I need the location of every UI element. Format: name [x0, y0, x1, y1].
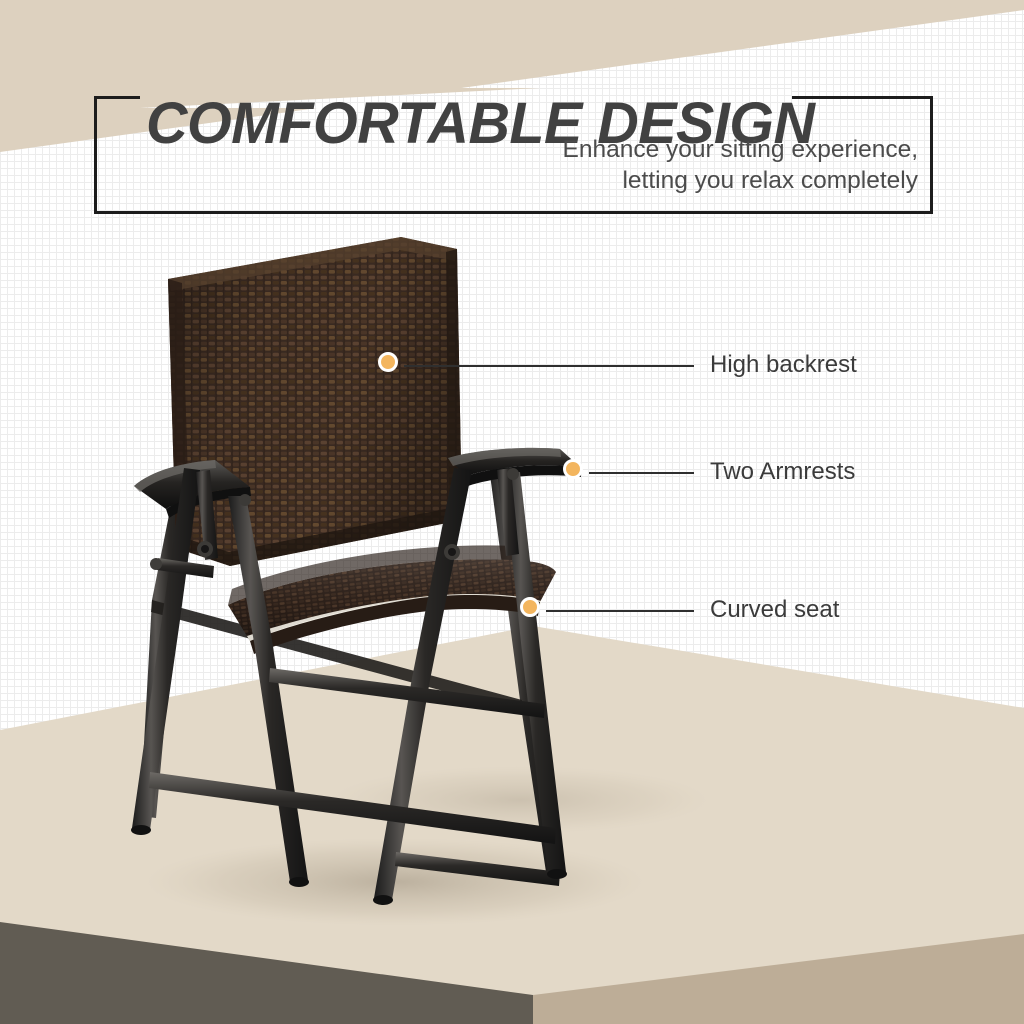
callout-label-two-armrests: Two Armrests — [710, 458, 855, 486]
page-subtitle: Enhance your sitting experience, letting… — [358, 134, 918, 196]
marker-dot-two-armrests — [563, 459, 583, 479]
chair-seat — [228, 545, 556, 654]
callout-label-high-backrest: High backrest — [710, 351, 857, 379]
marker-dot-curved-seat — [520, 597, 540, 617]
leader-line-high-backrest — [404, 365, 694, 367]
infographic-canvas: COMFORTABLE DESIGN Enhance your sitting … — [0, 0, 1024, 1024]
subtitle-line-2: letting you relax completely — [358, 165, 918, 196]
leader-line-two-armrests — [589, 472, 694, 474]
callout-label-curved-seat: Curved seat — [710, 596, 839, 624]
marker-dot-high-backrest — [378, 352, 398, 372]
subtitle-line-1: Enhance your sitting experience, — [358, 134, 918, 165]
leader-line-curved-seat — [546, 610, 694, 612]
